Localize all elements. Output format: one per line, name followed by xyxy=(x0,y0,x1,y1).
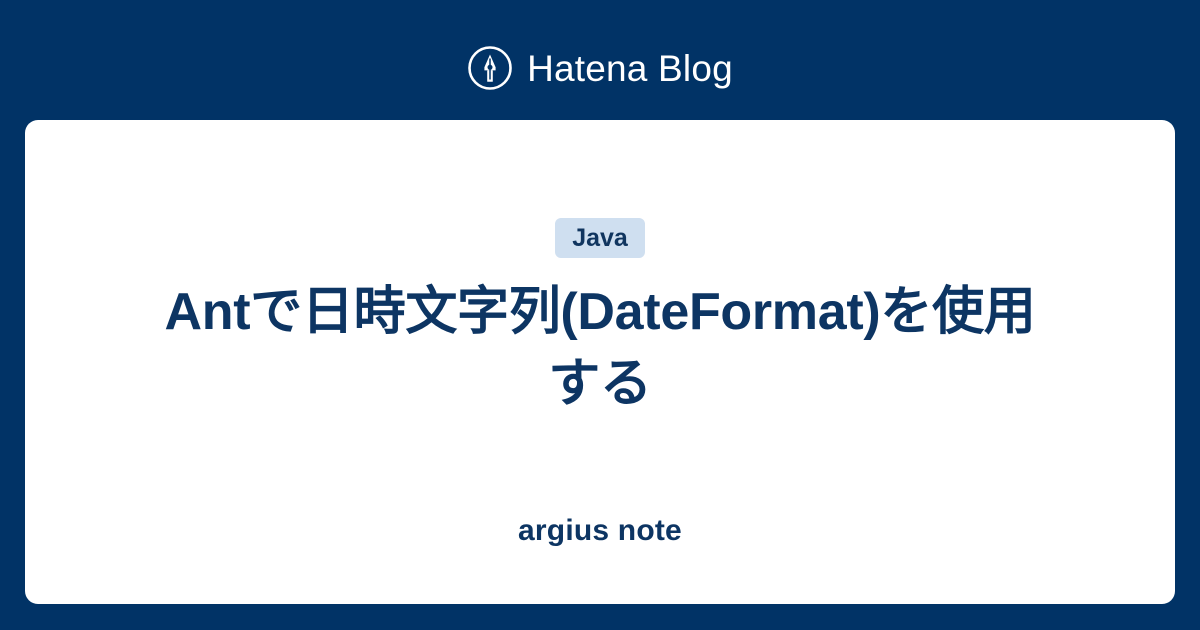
hatena-blog-brand: Hatena Blog xyxy=(0,36,1200,100)
fountain-pen-nib-icon xyxy=(467,45,513,91)
category-row: Java xyxy=(555,218,645,258)
blog-name-label: argius note xyxy=(25,516,1175,546)
category-badge[interactable]: Java xyxy=(555,218,645,258)
entry-card: Java Antで日時文字列(DateFormat)を使用する argius n… xyxy=(25,120,1175,604)
entry-title: Antで日時文字列(DateFormat)を使用する xyxy=(150,276,1050,420)
brand-name-label: Hatena Blog xyxy=(527,50,733,87)
og-image-card: Hatena Blog Java Antで日時文字列(DateFormat)を使… xyxy=(0,0,1200,630)
